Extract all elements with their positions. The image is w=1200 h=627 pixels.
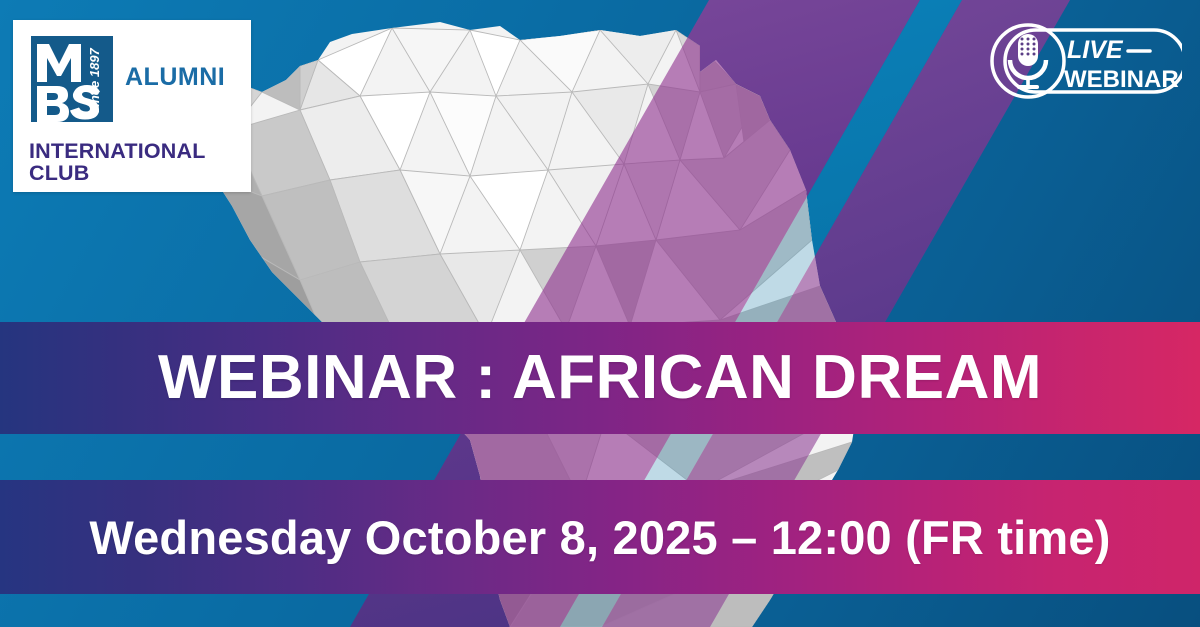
title-band: WEBINAR : AFRICAN DREAM — [0, 322, 1200, 434]
mbs-mark-icon: since 1897 — [25, 32, 117, 128]
logo-top-row: since 1897 ALUMNI — [13, 20, 251, 134]
logo-bottom-row: INTERNATIONAL CLUB — [13, 137, 251, 192]
page-title: WEBINAR : AFRICAN DREAM — [158, 347, 1042, 409]
live-label: LIVE — [1067, 36, 1124, 64]
event-datetime: Wednesday October 8, 2025 – 12:00 (FR ti… — [89, 514, 1110, 561]
webinar-label: WEBINAR — [1064, 66, 1179, 93]
mbs-alumni-logo: since 1897 ALUMNI INTERNATIONAL CLUB — [13, 20, 251, 192]
logo-alumni-label: ALUMNI — [125, 65, 225, 96]
microphone-icon — [1010, 34, 1046, 89]
since-1897-label: since 1897 — [87, 47, 102, 114]
date-band: Wednesday October 8, 2025 – 12:00 (FR ti… — [0, 480, 1200, 594]
webinar-banner: since 1897 ALUMNI INTERNATIONAL CLUB — [0, 0, 1200, 627]
logo-international-club-label: INTERNATIONAL CLUB — [29, 141, 251, 184]
live-webinar-badge: LIVE WEBINAR — [982, 20, 1182, 102]
